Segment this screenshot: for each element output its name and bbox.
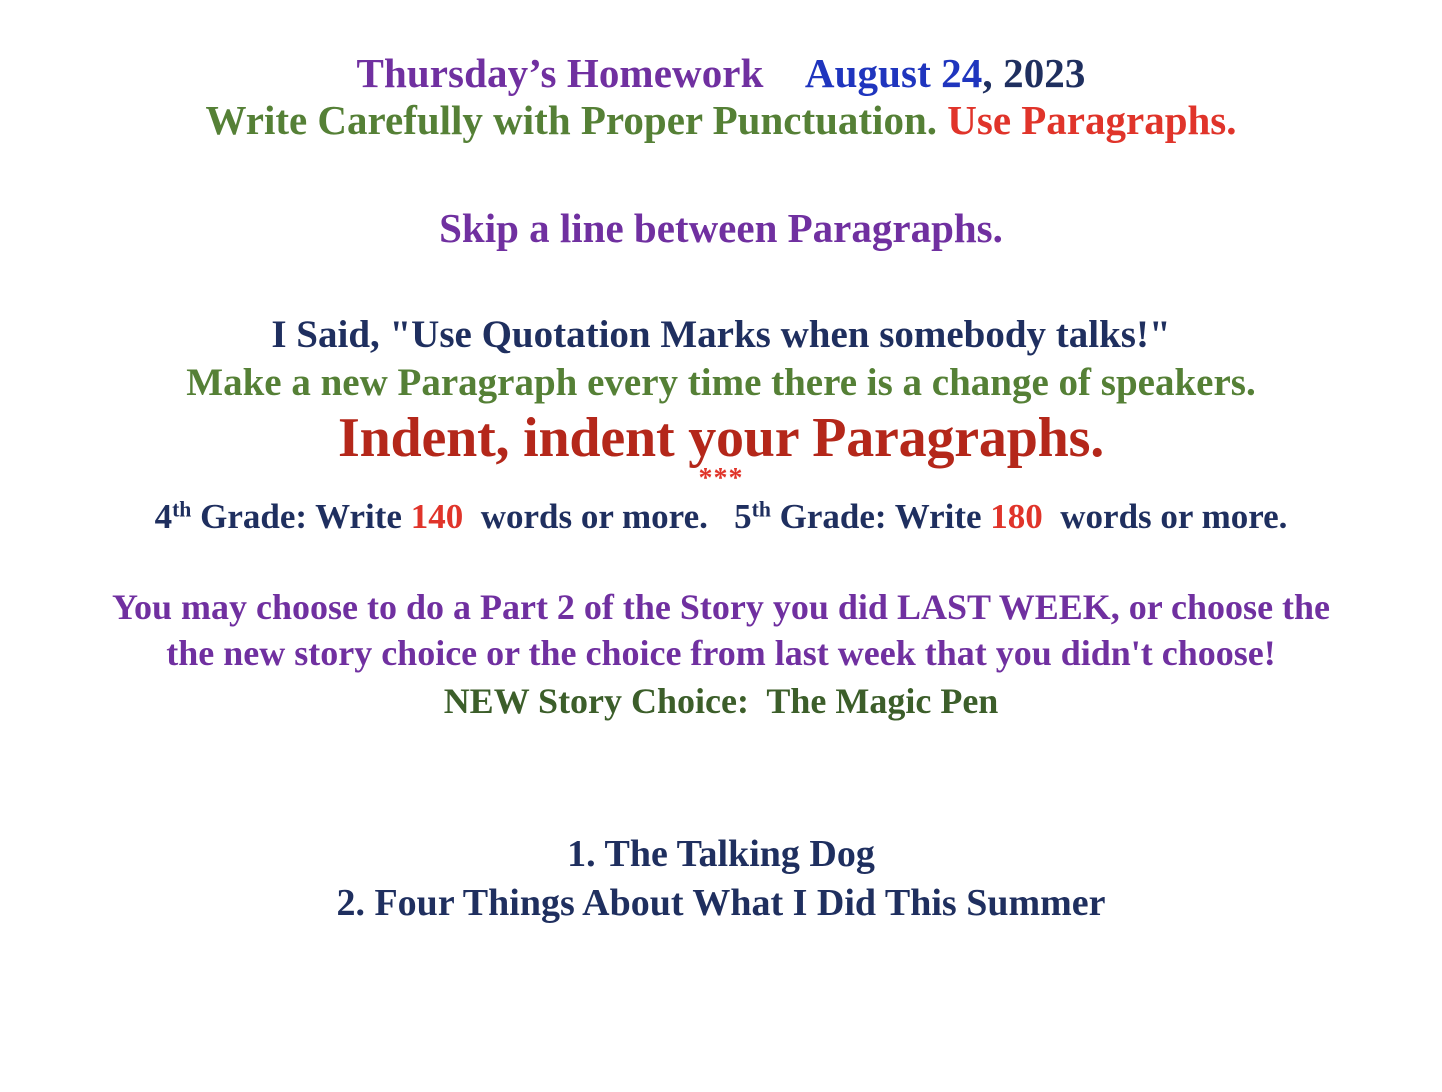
grade-5-write-label: Grade: Write — [771, 497, 990, 536]
homework-slide: Thursday’s Homework August 24, 2023 Writ… — [0, 0, 1442, 1092]
story-option-1-number: 1. — [567, 833, 596, 875]
new-story-choice-label: NEW Story Choice: The Magic Pen — [444, 681, 999, 721]
homework-title-label: Thursday’s Homework — [357, 50, 764, 96]
grade-4-write-label: Grade: Write — [191, 497, 410, 536]
homework-date-month-day: August 24 — [805, 50, 982, 96]
grade-5-ordinal-suffix: th — [752, 498, 771, 522]
grade-4-word-count: 140 — [411, 497, 464, 536]
indent-paragraphs-rule: Indent, indent your Paragraphs. — [0, 409, 1442, 468]
punctuation-spacer — [937, 97, 947, 143]
grade-5-words-suffix: words or more. — [1043, 497, 1288, 536]
grade-word-count-line: 4th Grade: Write 140 words or more. 5th … — [0, 498, 1442, 535]
story-option-2-title: Four Things About What I Did This Summer — [374, 882, 1105, 924]
homework-title-line: Thursday’s Homework August 24, 2023 — [0, 52, 1442, 95]
use-paragraphs-text: Use Paragraphs. — [947, 97, 1236, 143]
skip-line-rule: Skip a line between Paragraphs. — [0, 207, 1442, 250]
story-option-2-number: 2. — [336, 882, 365, 924]
new-paragraph-speakers-rule: Make a new Paragraph every time there is… — [0, 362, 1442, 403]
grade-4-ordinal-suffix: th — [172, 498, 191, 522]
grade-4-words-suffix: words or more. — [463, 497, 734, 536]
asterisk-divider: *** — [0, 464, 1442, 494]
grade-4-number: 4th — [155, 497, 192, 536]
header-group: Thursday’s Homework August 24, 2023 Writ… — [0, 0, 1442, 143]
story-options-list: 1. The Talking Dog 2. Four Things About … — [0, 830, 1442, 927]
grade-5-word-count: 180 — [990, 497, 1043, 536]
choice-instructions-paragraph: You may choose to do a Part 2 of the Sto… — [96, 585, 1346, 676]
new-story-choice-line: NEW Story Choice: The Magic Pen — [0, 682, 1442, 720]
title-spacer — [764, 50, 805, 96]
write-carefully-text: Write Carefully with Proper Punctuation. — [205, 97, 937, 143]
list-item: 2. Four Things About What I Did This Sum… — [0, 879, 1442, 928]
grade-5-number: 5th — [734, 497, 771, 536]
punctuation-rule-line: Write Carefully with Proper Punctuation.… — [0, 99, 1442, 142]
list-item: 1. The Talking Dog — [0, 830, 1442, 879]
story-choice-group: You may choose to do a Part 2 of the Sto… — [0, 585, 1442, 720]
quotation-rules-group: I Said, "Use Quotation Marks when somebo… — [0, 314, 1442, 535]
quotation-marks-rule: I Said, "Use Quotation Marks when somebo… — [0, 314, 1442, 355]
story-option-1-title: The Talking Dog — [604, 833, 874, 875]
homework-date-year: , 2023 — [982, 50, 1085, 96]
